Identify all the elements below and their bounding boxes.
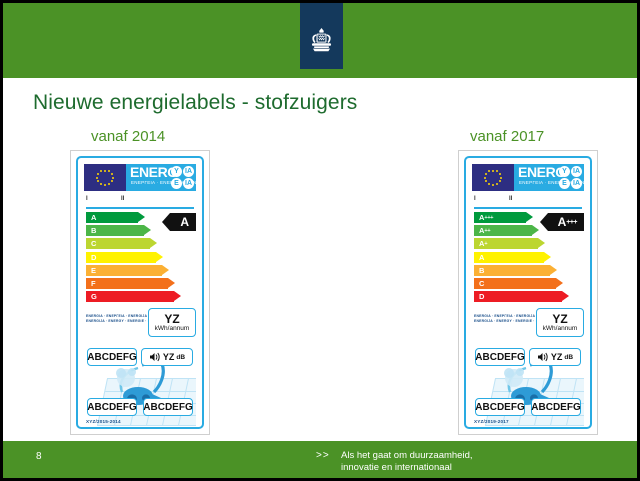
energy-class-bar: B (86, 225, 144, 236)
energy-class-bar: C (474, 278, 556, 289)
eu-star-icon (500, 177, 502, 179)
energy-class-row: F (86, 278, 178, 289)
eu-star-icon (96, 177, 98, 179)
energ-banner-2014: ENERG ENEPГEIA · ENERGIJA · ENERGY Y IA … (126, 164, 196, 191)
energ-circle-4-2014: IA (183, 178, 194, 189)
energy-class-bar: A (86, 212, 138, 223)
dutch-government-coat-of-arms-icon (300, 25, 343, 59)
eu-star-icon (496, 170, 498, 172)
energy-label-2017-inner: ENERG ENEPГEIA · ENERGIJA · ENERGY Y IA … (464, 156, 592, 429)
energy-class-sup: ++ (484, 228, 490, 234)
eu-star-icon (492, 184, 494, 186)
page-number: 8 (36, 451, 42, 462)
eu-star-icon (104, 170, 106, 172)
energy-class-bar: A (474, 252, 544, 263)
eu-star-icon (485, 180, 487, 182)
dust-class-box-2017: ABCDEFG (475, 348, 525, 366)
energy-class-row: A+ (474, 238, 566, 249)
energy-class-label: F (91, 279, 96, 288)
reference-code-2014: XYZ/2015-2014 (86, 419, 121, 424)
energy-class-sup: + (484, 241, 487, 247)
eu-star-icon (485, 173, 487, 175)
energy-class-label: C (91, 239, 96, 248)
logo-banner (300, 3, 343, 69)
noise-box-2014: YZdB (141, 348, 193, 366)
eu-star-icon (100, 183, 102, 185)
energ-circle-1-2017: Y (559, 166, 570, 177)
energy-class-bar: C (86, 238, 150, 249)
rating-letter-2017: A (558, 215, 567, 229)
energy-class-label: D (91, 253, 96, 262)
consumption-box-2014: YZ kWh/annum (148, 308, 196, 337)
energ-banner-2017: ENERG ENEPГEIA · ENERGIJA · ENERGY Y IA … (514, 164, 584, 191)
dust-class-text-2014: ABCDEFG (87, 352, 136, 363)
energy-class-bar: E (86, 265, 162, 276)
energ-circle-1-2014: Y (171, 166, 182, 177)
energy-class-bar: G (86, 291, 174, 302)
eu-star-icon (484, 177, 486, 179)
consumption-unit-2017: kWh/annum (543, 325, 578, 333)
eu-star-icon (499, 173, 501, 175)
energ-circle-4-2017: IA (571, 178, 582, 189)
energy-class-bar: A+ (474, 238, 538, 249)
eu-star-icon (100, 170, 102, 172)
energy-class-row: G (86, 291, 178, 302)
energy-label-2014: ENERG ENEPГEIA · ENERGIJA · ENERGY Y IA … (70, 150, 210, 435)
energy-class-row: C (86, 238, 178, 249)
energy-class-bar: D (86, 252, 156, 263)
energy-class-label: B (91, 226, 96, 235)
carpet-class-text-2014: ABCDEFG (87, 402, 136, 413)
hardfloor-class-box-2017: ABCDEFG (531, 398, 581, 416)
eu-star-icon (488, 170, 490, 172)
header-band (3, 3, 637, 78)
eu-star-icon (104, 184, 106, 186)
energ-circle-3-2014: E (171, 178, 182, 189)
eu-star-icon (97, 180, 99, 182)
energy-class-label: D (479, 292, 484, 301)
energy-class-row: A (474, 252, 566, 263)
eu-flag-icon-2014 (84, 164, 126, 191)
carpet-class-text-2017: ABCDEFG (475, 402, 524, 413)
rating-arrow-2017: A+++ (548, 213, 584, 231)
energy-class-bar: A++ (474, 225, 532, 236)
sound-icon-2017 (537, 351, 549, 363)
energy-class-sup: +++ (484, 215, 493, 221)
eu-star-icon (488, 183, 490, 185)
energ-header-2017: ENERG ENEPГEIA · ENERGIJA · ENERGY Y IA … (472, 164, 584, 191)
noise-unit-2014: dB (176, 354, 185, 361)
subtitle-right-2017: vanaf 2017 (470, 128, 544, 145)
reference-code-2017: XYZ/2019-2017 (474, 419, 509, 424)
energy-class-label: A (91, 213, 96, 222)
dust-class-text-2017: ABCDEFG (475, 352, 524, 363)
footer-tagline-line1: Als het gaat om duurzaamheid, (341, 450, 473, 462)
footer-tagline: Als het gaat om duurzaamheid, innovatie … (341, 450, 473, 474)
energy-class-row: D (86, 252, 178, 263)
energy-class-label: A (479, 253, 484, 262)
scale-marker-ii-2017: II (509, 196, 512, 202)
rating-arrow-2014: A (170, 213, 196, 231)
energy-label-2017: ENERG ENEPГEIA · ENERGIJA · ENERGY Y IA … (458, 150, 598, 435)
energ-circle-3-2017: E (559, 178, 570, 189)
energy-class-label: G (91, 292, 97, 301)
dust-class-box-2014: ABCDEFG (87, 348, 137, 366)
divider-2017 (474, 207, 582, 209)
eu-star-icon (492, 170, 494, 172)
chevron-icon: >> (316, 450, 330, 461)
energy-class-row: D (474, 291, 566, 302)
eu-star-icon (108, 183, 110, 185)
energ-header-2014: ENERG ENEPГEIA · ENERGIJA · ENERGY Y IA … (84, 164, 196, 191)
rating-sup-2017: +++ (566, 219, 577, 226)
footer-tagline-line2: innovatie en internationaal (341, 462, 473, 474)
carpet-class-box-2017: ABCDEFG (475, 398, 525, 416)
eu-star-icon (108, 170, 110, 172)
noise-value-2017: YZ (551, 352, 563, 362)
energ-circles-2017: Y IA E IA (559, 166, 582, 189)
energy-class-label: B (479, 266, 484, 275)
consumption-value-2014: YZ (164, 313, 179, 325)
consumption-value-2017: YZ (552, 313, 567, 325)
footer-divider (3, 439, 637, 441)
eu-star-icon (97, 173, 99, 175)
rating-letter-2014: A (180, 215, 189, 229)
footer-band: 8 >> Als het gaat om duurzaamheid, innov… (3, 441, 637, 478)
energy-class-label: C (479, 279, 484, 288)
divider-2014 (86, 207, 194, 209)
consumption-box-2017: YZ kWh/annum (536, 308, 584, 337)
hardfloor-class-text-2017: ABCDEFG (531, 402, 580, 413)
hardfloor-class-box-2014: ABCDEFG (143, 398, 193, 416)
pictogram-area-2014: ABCDEFG YZdB ABCDEFG ABCDEFG (84, 340, 196, 429)
eu-star-icon (111, 173, 113, 175)
energy-class-bar: A+++ (474, 212, 526, 223)
subtitle-left-2014: vanaf 2014 (91, 128, 165, 145)
scale-marker-i-2014: I (86, 196, 88, 202)
energy-class-row: E (86, 265, 178, 276)
energ-circle-2-2017: IA (571, 166, 582, 177)
energy-label-2014-inner: ENERG ENEPГEIA · ENERGIJA · ENERGY Y IA … (76, 156, 204, 429)
energy-class-bar: F (86, 278, 168, 289)
slide: Nieuwe energielabels - stofzuigers vanaf… (0, 0, 640, 481)
sound-icon-2014 (149, 351, 161, 363)
energ-circles-2014: Y IA E IA (171, 166, 194, 189)
carpet-class-box-2014: ABCDEFG (87, 398, 137, 416)
energ-circle-2-2014: IA (183, 166, 194, 177)
energy-class-row: C (474, 278, 566, 289)
noise-unit-2017: dB (564, 354, 573, 361)
energy-class-bar: B (474, 265, 550, 276)
energy-class-label: E (91, 266, 96, 275)
pictogram-area-2017: ABCDEFG YZdB ABCDEFG ABCDEFG (472, 340, 584, 429)
noise-box-2017: YZdB (529, 348, 581, 366)
scale-marker-ii-2014: II (121, 196, 124, 202)
energy-class-row: B (474, 265, 566, 276)
eu-star-icon (112, 177, 114, 179)
eu-star-icon (496, 183, 498, 185)
energy-class-bar: D (474, 291, 562, 302)
eu-star-icon (499, 180, 501, 182)
noise-value-2014: YZ (163, 352, 175, 362)
eu-flag-icon-2017 (472, 164, 514, 191)
eu-star-icon (111, 180, 113, 182)
consumption-unit-2014: kWh/annum (155, 325, 190, 333)
scale-marker-i-2017: I (474, 196, 476, 202)
page-title: Nieuwe energielabels - stofzuigers (33, 91, 357, 115)
hardfloor-class-text-2014: ABCDEFG (143, 402, 192, 413)
